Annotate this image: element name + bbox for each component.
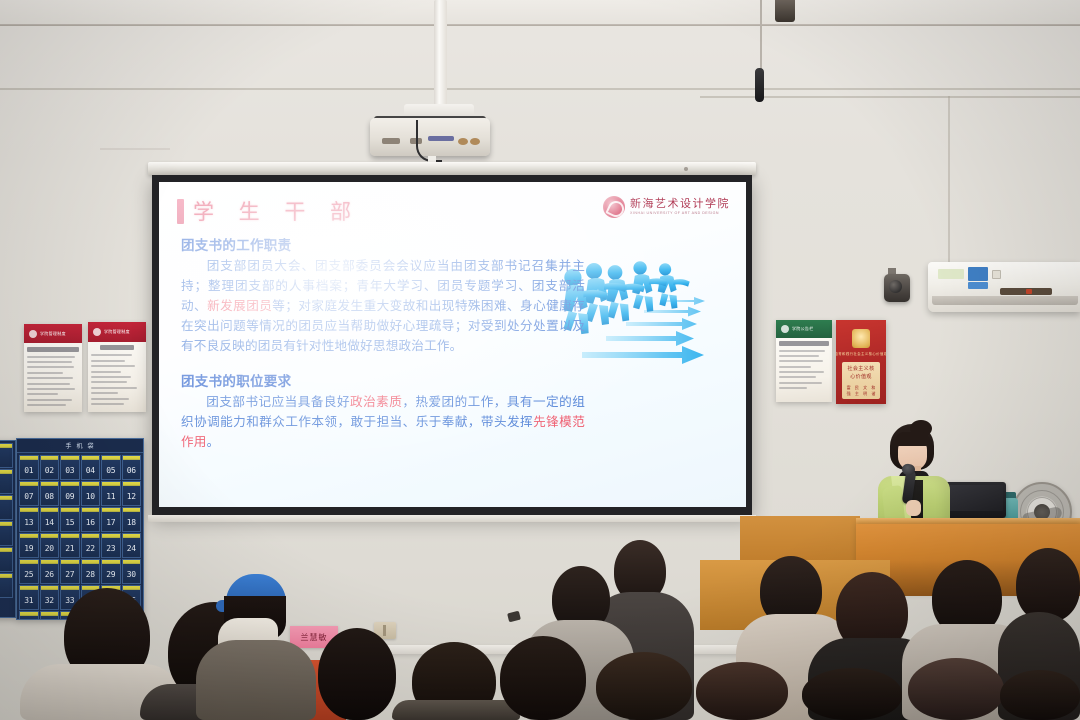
header-char: 机 (76, 441, 83, 450)
ac-air-vent (932, 296, 1078, 305)
poster-values-card: 社会主义核心价值观 富强 民主 文明 和谐 自由 平等 公正 法治 爱国 敬业 … (842, 362, 880, 399)
wall-panel-edge (948, 96, 950, 266)
poster-values-title: 社会主义核心价值观 (845, 366, 877, 381)
pocket-slot[interactable]: 01 (19, 455, 39, 480)
projection-screen-housing (148, 162, 756, 175)
wall-seam-upper (0, 88, 1080, 90)
pocket-slot[interactable]: 30 (122, 559, 142, 584)
pocket-slot[interactable]: 23 (101, 533, 121, 558)
swirl-logo-icon (603, 196, 625, 218)
poster-title (27, 347, 78, 352)
left-poster-2: 学院管理制度 (88, 322, 146, 412)
ceiling (0, 0, 1080, 26)
lecture-hall-scene: 学院管理制度 学院管理制度 学院公告栏 (0, 0, 1080, 720)
audience-head (318, 628, 396, 720)
pocket-slot[interactable]: 06 (122, 455, 142, 480)
projection-screen: 学 生 干 部 新海艺术设计学院 XINHAI UNIVERSITY OF AR… (152, 175, 752, 515)
section-heading-2: 团支书的职位要求 (181, 370, 585, 390)
para-part: 。 (207, 434, 220, 449)
value-item: 和谐 (870, 385, 877, 397)
poster-banner: 学院管理制度 (88, 322, 146, 342)
audience-head (1000, 670, 1080, 720)
pocket-slot[interactable]: 31 (19, 585, 39, 610)
logo-name-en: XINHAI UNIVERSITY OF ART AND DESIGN (630, 212, 730, 216)
pocket-slot[interactable]: 16 (81, 507, 101, 532)
pocket-slot[interactable]: 20 (40, 533, 60, 558)
pocket-slot[interactable]: 27 (60, 559, 80, 584)
pocket-slot[interactable]: 24 (122, 533, 142, 558)
projector-mount-pole (434, 0, 447, 110)
pocket-slot[interactable]: 05 (101, 455, 121, 480)
presenter-hand (906, 500, 921, 516)
poster-body-lines (91, 354, 142, 408)
pocket-slot[interactable]: 09 (60, 481, 80, 506)
poster-logo-icon (93, 328, 101, 336)
pocket-slot[interactable]: 10 (81, 481, 101, 506)
value-item: 自由 (845, 400, 852, 405)
section-paragraph-2: 团支部书记应当具备良好政治素质，热爱团的工作，具有一定的组织协调能力和群众工作本… (181, 392, 585, 452)
pocket-slot[interactable]: 15 (60, 507, 80, 532)
poster-title (100, 345, 135, 350)
pocket-slot[interactable]: 29 (101, 559, 121, 584)
pocket-slot[interactable]: 11 (101, 481, 121, 506)
hanging-microphone (755, 68, 764, 102)
section-heading-1: 团支书的工作职责 (181, 234, 585, 254)
slide-logo: 新海艺术设计学院 XINHAI UNIVERSITY OF ART AND DE… (603, 196, 730, 218)
audience-head (1016, 548, 1080, 622)
poster-banner-text: 学院管理制度 (40, 331, 66, 337)
audience-body (196, 640, 316, 720)
audience-head (500, 636, 586, 720)
value-item: 文明 (862, 385, 869, 397)
right-poster-core-values: 培育和践行社会主义核心价值观 社会主义核心价值观 富强 民主 文明 和谐 自由 … (836, 320, 886, 404)
section-paragraph-1: 团支部团员大会、团支部委员会会议应当由团支部书记召集并主持；整理团支部的人事档案… (181, 256, 585, 355)
pocket-slot[interactable]: 38 (40, 611, 60, 620)
pocket-slot[interactable]: 32 (40, 585, 60, 610)
value-item: 富强 (845, 385, 852, 397)
pocket-slot[interactable]: 08 (40, 481, 60, 506)
value-item: 民主 (853, 385, 860, 397)
pocket-slot[interactable]: 02 (40, 455, 60, 480)
pocket-slot[interactable]: 18 (122, 507, 142, 532)
ceiling-fixture (775, 0, 795, 22)
pocket-slot[interactable]: 25 (19, 559, 39, 584)
poster-subtitle: 培育和践行社会主义核心价值观 (836, 351, 886, 356)
phone-pocket-board-partial (0, 440, 16, 618)
ceiling-seam (0, 24, 1080, 26)
audience-head (802, 668, 902, 720)
poster-banner: 学院公告栏 (776, 320, 832, 338)
national-emblem-icon (852, 329, 870, 348)
audience-body (392, 700, 520, 720)
value-item: 平等 (853, 400, 860, 405)
pocket-slot[interactable]: 03 (60, 455, 80, 480)
poster-banner-text: 学院公告栏 (792, 326, 814, 332)
pocket-slot[interactable]: 14 (40, 507, 60, 532)
pocket-slot[interactable]: 21 (60, 533, 80, 558)
poster-body-lines (779, 350, 828, 393)
running-people-arrows-icon (564, 256, 736, 378)
wall-seam-left (100, 148, 170, 150)
poster-body-lines (27, 356, 78, 410)
pocket-slot[interactable]: 07 (19, 481, 39, 506)
poster-logo-icon (781, 325, 789, 333)
logo-name-cn: 新海艺术设计学院 (630, 198, 730, 209)
right-poster-green: 学院公告栏 (776, 320, 832, 402)
header-char: 手 (65, 441, 72, 450)
left-poster-1: 学院管理制度 (24, 324, 82, 412)
poster-banner-text: 学院管理制度 (104, 329, 130, 335)
poster-banner: 学院管理制度 (24, 324, 82, 343)
value-item: 法治 (870, 400, 877, 405)
audience-head (596, 652, 692, 720)
poster-title (779, 341, 828, 346)
pocket-slot[interactable]: 37 (19, 611, 39, 620)
title-accent-bar (177, 199, 184, 224)
presenter-fringe (895, 432, 930, 446)
pocket-slot[interactable]: 26 (40, 559, 60, 584)
pocket-slot[interactable]: 04 (81, 455, 101, 480)
slide-title-group: 学 生 干 部 (177, 196, 360, 226)
ac-display-panel (1000, 288, 1052, 295)
poster-logo-icon (29, 330, 37, 338)
header-char: 袋 (88, 441, 95, 450)
audience-head (696, 662, 788, 720)
slide-body: 团支书的工作职责 团支部团员大会、团支部委员会会议应当由团支部书记召集并主持；整… (181, 234, 585, 452)
pocket-slot[interactable]: 13 (19, 507, 39, 532)
core-values-grid: 富强 民主 文明 和谐 自由 平等 公正 法治 爱国 敬业 诚信 友善 (845, 385, 877, 404)
slide-title: 学 生 干 部 (193, 196, 360, 226)
camera-lens-icon (889, 280, 902, 293)
pocket-board-header: 手 机 袋 (17, 439, 143, 453)
audience-head (908, 658, 1004, 720)
value-item: 公正 (862, 400, 869, 405)
pocket-slot[interactable]: 12 (122, 481, 142, 506)
para-part: 团支部书记应当具备良好 (206, 394, 350, 409)
slide-surface: 学 生 干 部 新海艺术设计学院 XINHAI UNIVERSITY OF AR… (159, 182, 746, 507)
para-highlight: 新发展团员 (207, 298, 272, 313)
pocket-slot[interactable]: 28 (81, 559, 101, 584)
pocket-slot[interactable]: 22 (81, 533, 101, 558)
housing-screw-icon (684, 167, 688, 171)
pocket-slot[interactable]: 19 (19, 533, 39, 558)
pocket-slot[interactable]: 17 (101, 507, 121, 532)
para-highlight: 政治素质 (350, 394, 402, 409)
